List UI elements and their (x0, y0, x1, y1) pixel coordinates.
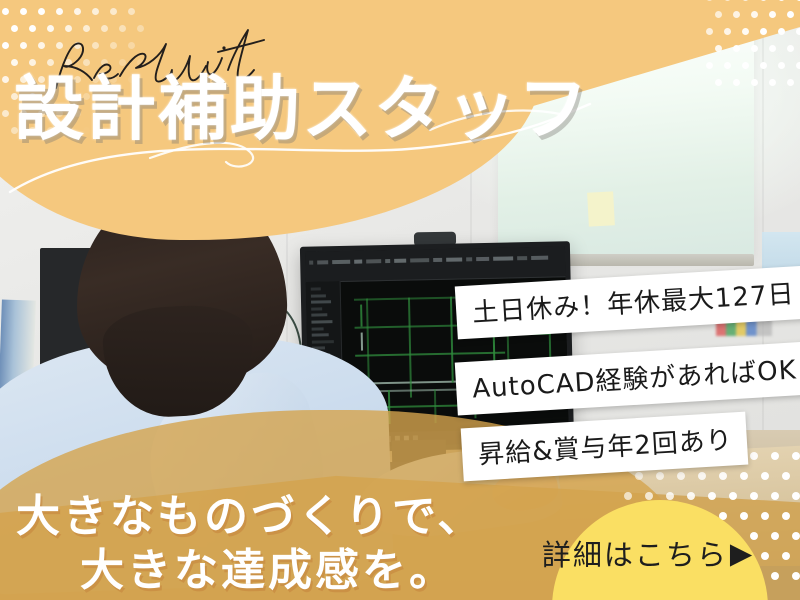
cad-toolbar (305, 246, 566, 282)
cta-label-wrap: 詳細はこちら ▶ (542, 532, 754, 574)
tagline-line-2: 大きな達成感を。 (16, 544, 484, 598)
tagline-line-1: 大きなものづくりで、 (16, 491, 484, 542)
dot-pattern-top-right (706, 0, 800, 94)
tagline: 大きなものづくりで、 大きな達成感を。 (16, 490, 484, 597)
cta-label-text: 詳細はこちら (542, 532, 728, 574)
details-cta-button[interactable]: 詳細はこちら ▶ (500, 500, 796, 600)
benefit-label-1-text: 土日休み！年休最大127日 (471, 279, 795, 328)
benefit-label-2-text: AutoCAD経験があればOK (471, 355, 797, 404)
play-arrow-icon: ▶ (730, 536, 754, 570)
benefit-label-3-text: 昇給&賞与年2回あり (477, 425, 733, 470)
page-title: 設計補助スタッフ (14, 74, 590, 144)
recruitment-banner: Recruit 設計補助スタッフ 土日休み！年休最大127日 AutoCAD経験… (0, 0, 800, 600)
sticky-note (587, 191, 615, 226)
